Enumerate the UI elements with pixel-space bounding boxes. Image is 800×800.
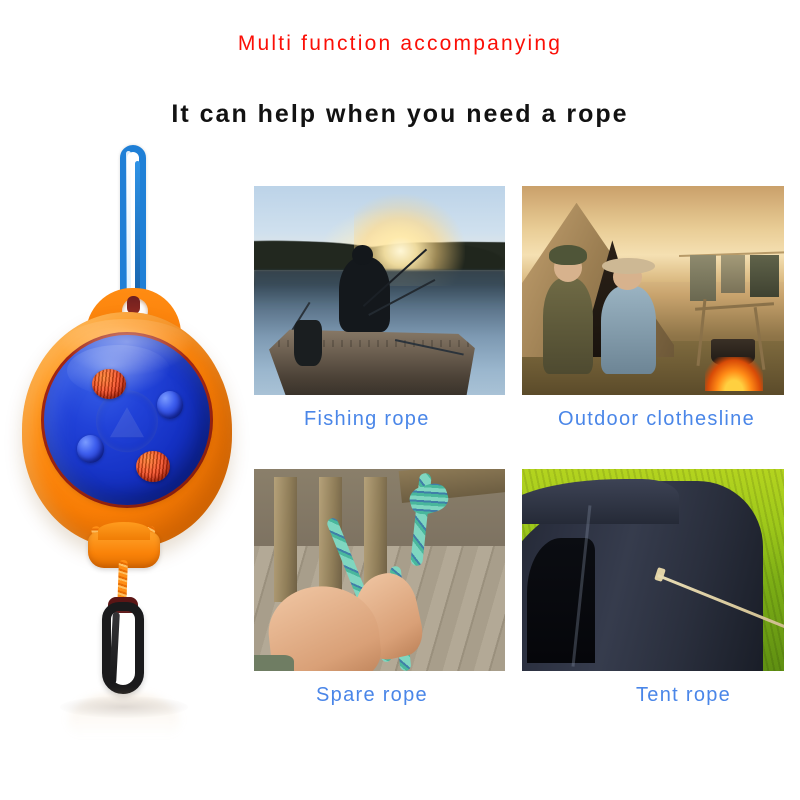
hanging-cloth-3: [750, 255, 779, 297]
blue-knob-bottom-left: [77, 435, 104, 463]
product-shadow: [60, 696, 188, 718]
gallery-item-tent[interactable]: Tent rope: [522, 469, 784, 671]
feature-gallery: Fishing rope: [254, 186, 784, 676]
page-subtitle: It can help when you need a rope: [0, 100, 800, 129]
blue-knob-top-right: [157, 391, 183, 419]
carabiner-gate: [135, 161, 140, 297]
photo-clothesline: [522, 186, 784, 395]
reel-disc: [44, 335, 210, 505]
boy-left: [543, 278, 593, 374]
boy-right: [601, 286, 656, 374]
emblem-triangle-icon: [110, 407, 144, 437]
caption-clothesline: Outdoor clothesline: [558, 408, 755, 431]
railing-post-1: [274, 477, 297, 602]
boy-right-hat-icon: [602, 258, 655, 274]
caption-spare: Spare rope: [316, 684, 428, 707]
gallery-item-clothesline[interactable]: Outdoor clothesline: [522, 186, 784, 395]
product-marketing-page: Multi function accompanying It can help …: [0, 0, 800, 800]
gallery-item-spare[interactable]: Spare rope: [254, 469, 505, 671]
boy-left-cap-icon: [549, 245, 587, 264]
hanging-cloth-2: [721, 255, 745, 293]
carabiner-highlight: [126, 151, 131, 301]
shirt-sleeve: [254, 655, 294, 671]
snap-clip-icon: [102, 602, 144, 694]
product-image: [8, 140, 240, 740]
photo-spare-rope: [254, 469, 505, 671]
embossed-emblem: [96, 390, 158, 452]
fire-tripod-bar: [695, 302, 774, 310]
gallery-item-fishing[interactable]: Fishing rope: [254, 186, 505, 395]
reel-housing: [22, 312, 232, 548]
tackle-bag: [294, 320, 322, 366]
campfire: [705, 357, 763, 390]
photo-tent-rope: [522, 469, 784, 671]
photo-fishing: [254, 186, 505, 395]
caption-fishing: Fishing rope: [304, 408, 430, 431]
caption-tent: Tent rope: [636, 684, 731, 707]
angler-body: [339, 257, 389, 332]
red-knob-bottom-right: [136, 451, 170, 482]
page-title: Multi function accompanying: [0, 32, 800, 56]
red-knob-top-left: [92, 369, 126, 399]
hanging-cloth-1: [690, 255, 716, 301]
